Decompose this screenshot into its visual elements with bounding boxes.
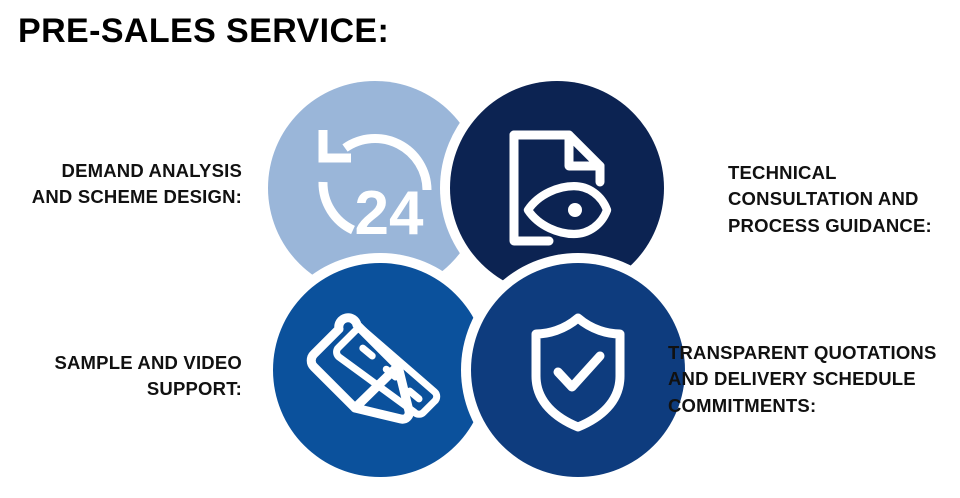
- label-transparent-quotations: TRANSPARENT QUOTATIONS AND DELIVERY SCHE…: [668, 340, 960, 419]
- circle-cluster: 24: [255, 70, 685, 490]
- circle-demand-analysis[interactable]: 24: [268, 81, 482, 295]
- label-technical-consultation: TECHNICAL CONSULTATION AND PROCESS GUIDA…: [728, 160, 956, 239]
- page-title: PRE-SALES SERVICE:: [18, 12, 389, 51]
- circle-cluster-svg: 24: [255, 70, 685, 490]
- circle-sample-video-support[interactable]: [273, 263, 487, 477]
- hours-badge-text: 24: [355, 179, 424, 248]
- circle-shape-bottom-left: [273, 263, 487, 477]
- circle-technical-consultation[interactable]: [450, 81, 664, 295]
- circle-transparent-quotations[interactable]: [471, 263, 685, 477]
- label-demand-analysis: DEMAND ANALYSIS AND SCHEME DESIGN:: [0, 158, 242, 211]
- infographic-root: PRE-SALES SERVICE:: [0, 0, 960, 498]
- circle-shape-bottom-right: [471, 263, 685, 477]
- label-sample-video-support: SAMPLE AND VIDEO SUPPORT:: [0, 350, 242, 403]
